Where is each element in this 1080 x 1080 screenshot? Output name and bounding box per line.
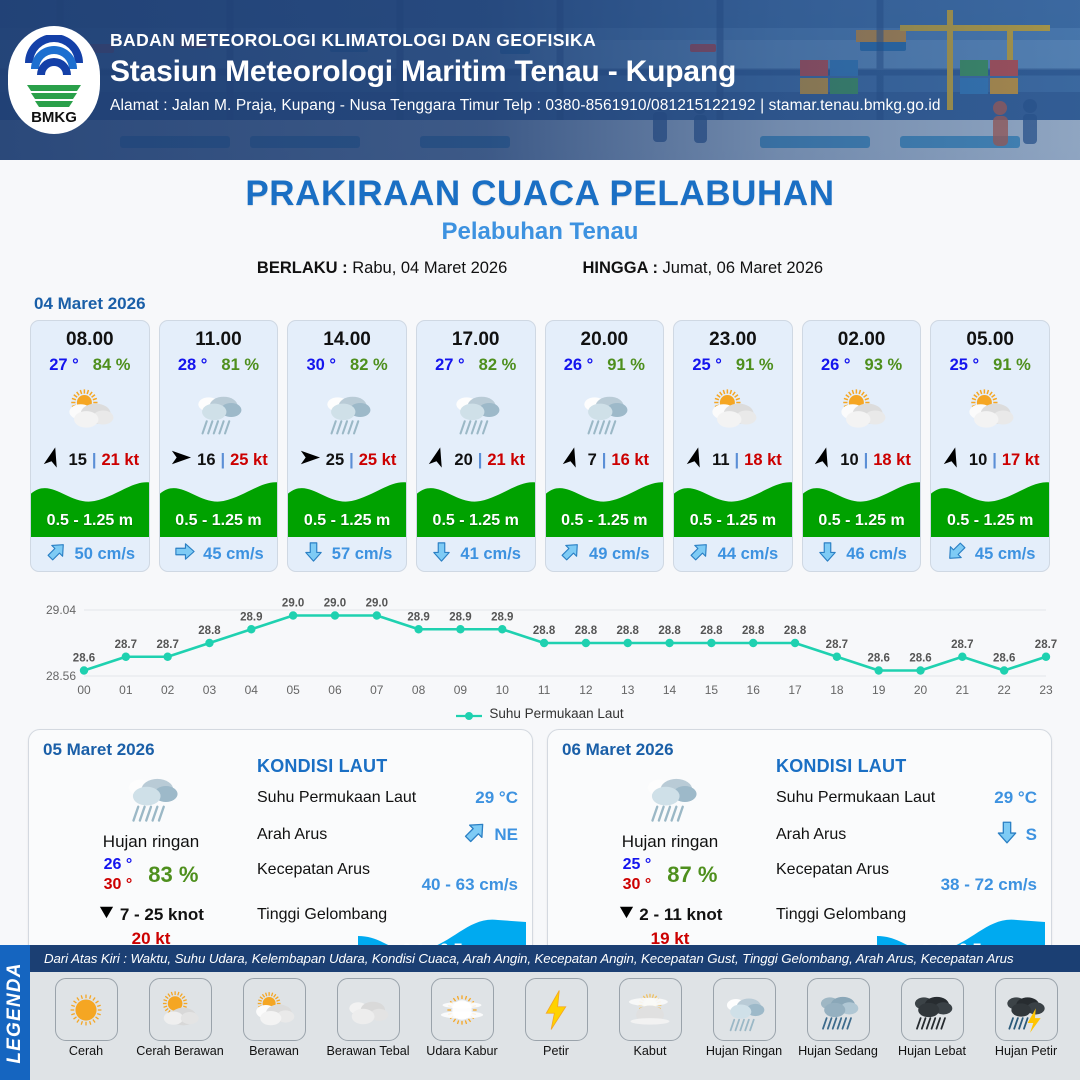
- card-wind: 10 | 18 kt: [803, 445, 921, 475]
- card-wind-speed: 11: [712, 451, 729, 470]
- daily-humidity: 87 %: [667, 862, 717, 888]
- card-wind: 16 | 25 kt: [160, 445, 278, 475]
- card-current: 46 cm/s: [803, 537, 921, 571]
- card-time: 02.00: [803, 321, 921, 351]
- legend-bar: LEGENDA Dari Atas Kiri : Waktu, Suhu Uda…: [0, 945, 1080, 1080]
- svg-text:28.6: 28.6: [909, 653, 931, 665]
- card-temp-humidity: 27 ° 82 %: [417, 356, 535, 375]
- daily-condition: Hujan ringan: [51, 832, 251, 852]
- daily-condition: Hujan ringan: [570, 832, 770, 852]
- card-wind: 10 | 17 kt: [931, 445, 1049, 475]
- current-direction-label: Arah Arus: [257, 826, 462, 844]
- card-wave-height: 0.5 - 1.25 m: [160, 512, 278, 530]
- card-temperature: 28 °: [178, 356, 208, 375]
- card-humidity: 81 %: [221, 356, 259, 375]
- svg-text:20: 20: [914, 683, 928, 697]
- valid-from-value: Rabu, 04 Maret 2026: [352, 259, 507, 277]
- valid-from-label: BERLAKU :: [257, 259, 348, 277]
- svg-text:13: 13: [621, 683, 635, 697]
- validity-line: BERLAKU : Rabu, 04 Maret 2026 HINGGA : J…: [0, 259, 1080, 278]
- card-current-speed: 50 cm/s: [75, 545, 136, 564]
- cerah-icon: [55, 978, 118, 1041]
- sst-value: 29 °C: [475, 788, 518, 808]
- card-time: 20.00: [546, 321, 664, 351]
- hujan-ringan-icon: [160, 377, 278, 443]
- card-time: 05.00: [931, 321, 1049, 351]
- legend-caption: Dari Atas Kiri : Waktu, Suhu Udara, Kele…: [30, 945, 1080, 972]
- card-gust: 25 kt: [230, 451, 268, 470]
- card-temperature: 27 °: [435, 356, 465, 375]
- svg-text:28.9: 28.9: [240, 611, 262, 623]
- legend-item-label: Petir: [512, 1044, 600, 1058]
- card-gust: 18 kt: [873, 451, 911, 470]
- current-direction-row: Arah Arus NE: [257, 819, 518, 850]
- card-wave-height: 0.5 - 1.25 m: [803, 512, 921, 530]
- daily-humidity: 83 %: [148, 862, 198, 888]
- card-humidity: 91 %: [993, 356, 1031, 375]
- legend-item-label: Cerah Berawan: [136, 1044, 224, 1058]
- legend-side-label: LEGENDA: [0, 945, 30, 1080]
- svg-text:21: 21: [956, 683, 970, 697]
- valid-until-value: Jumat, 06 Maret 2026: [663, 259, 824, 277]
- card-gust: 21 kt: [487, 451, 525, 470]
- bmkg-logo: BMKG: [8, 26, 100, 134]
- current-direction-text: NE: [494, 825, 518, 845]
- forecast-card[interactable]: 20.00 26 ° 91 % 7 | 16 kt 0.5 - 1.25 m 4…: [545, 320, 665, 572]
- svg-text:07: 07: [370, 683, 384, 697]
- daily-left-block: Hujan ringan 26 ° 30 ° 83 % 7 - 25 knot …: [51, 758, 251, 949]
- svg-text:19: 19: [872, 683, 886, 697]
- current-direction-arrow-icon: [816, 540, 839, 568]
- card-wind: 25 | 25 kt: [288, 445, 406, 475]
- daily-current-direction-arrow-icon: [462, 819, 488, 850]
- wind-gust-separator: |: [478, 451, 483, 470]
- daily-temp-humidity: 26 ° 30 ° 83 %: [51, 855, 251, 895]
- current-direction-text: S: [1026, 825, 1037, 845]
- sea-conditions-title: KONDISI LAUT: [257, 756, 518, 777]
- hujan-lebat-icon: [901, 978, 964, 1041]
- card-current-speed: 57 cm/s: [332, 545, 393, 564]
- legend-item-label: Udara Kabur: [418, 1044, 506, 1058]
- svg-text:29.0: 29.0: [366, 598, 388, 610]
- card-current: 50 cm/s: [31, 537, 149, 571]
- forecast-card[interactable]: 05.00 25 ° 91 % 10 | 17 kt 0.5 - 1.25 m …: [930, 320, 1050, 572]
- daily-temp-min: 26 °: [104, 855, 133, 875]
- card-humidity: 93 %: [865, 356, 903, 375]
- sst-chart-svg: 29.0428.5628.60028.70128.70228.80328.904…: [22, 584, 1058, 702]
- svg-text:05: 05: [286, 683, 300, 697]
- wind-gust-separator: |: [735, 451, 740, 470]
- wind-direction-arrow-icon: [684, 446, 707, 474]
- legend-item: Hujan Sedang: [794, 978, 882, 1058]
- page-subtitle: Pelabuhan Tenau: [0, 218, 1080, 246]
- card-wave-height: 0.5 - 1.25 m: [288, 512, 406, 530]
- daily-temp-humidity: 25 ° 30 ° 87 %: [570, 855, 770, 895]
- card-wave-band: 0.5 - 1.25 m: [160, 475, 278, 537]
- svg-text:28.7: 28.7: [115, 639, 137, 651]
- svg-text:11: 11: [538, 683, 551, 697]
- svg-text:28.8: 28.8: [658, 625, 681, 637]
- legend-item: Cerah: [42, 978, 130, 1058]
- daily-sea-block: KONDISI LAUT Suhu Permukaan Laut 29 °C A…: [257, 756, 518, 924]
- svg-text:03: 03: [203, 683, 217, 697]
- card-temperature: 26 °: [564, 356, 594, 375]
- daily-summary-panel[interactable]: 05 Maret 2026 Hujan ringan 26 ° 30 ° 83 …: [28, 729, 533, 977]
- card-wave-band: 0.5 - 1.25 m: [546, 475, 664, 537]
- chart-legend-label: Suhu Permukaan Laut: [489, 706, 623, 721]
- current-direction-arrow-icon: [945, 540, 968, 568]
- forecast-card[interactable]: 23.00 25 ° 91 % 11 | 18 kt 0.5 - 1.25 m …: [673, 320, 793, 572]
- wind-direction-arrow-icon: [169, 446, 192, 474]
- svg-text:28.8: 28.8: [784, 625, 807, 637]
- card-wave-band: 0.5 - 1.25 m: [674, 475, 792, 537]
- legend-items: Cerah Cerah Berawan Berawan Berawan Teba…: [30, 972, 1080, 1058]
- svg-text:00: 00: [77, 683, 91, 697]
- card-current-speed: 45 cm/s: [975, 545, 1036, 564]
- svg-text:28.8: 28.8: [617, 625, 640, 637]
- legend-item-label: Kabut: [606, 1044, 694, 1058]
- legend-item: Berawan Tebal: [324, 978, 412, 1058]
- title-block: PRAKIRAAN CUACA PELABUHAN Pelabuhan Tena…: [0, 174, 1080, 278]
- svg-text:14: 14: [663, 683, 677, 697]
- page-title: PRAKIRAAN CUACA PELABUHAN: [0, 174, 1080, 214]
- card-gust: 21 kt: [102, 451, 140, 470]
- card-wave-height: 0.5 - 1.25 m: [674, 512, 792, 530]
- svg-text:28.7: 28.7: [951, 639, 973, 651]
- card-wave-band: 0.5 - 1.25 m: [931, 475, 1049, 537]
- svg-text:01: 01: [119, 683, 133, 697]
- card-wind: 15 | 21 kt: [31, 445, 149, 475]
- forecast-card[interactable]: 14.00 30 ° 82 % 25 | 25 kt 0.5 - 1.25 m …: [287, 320, 407, 572]
- svg-text:17: 17: [788, 683, 802, 697]
- svg-text:28.8: 28.8: [700, 625, 723, 637]
- card-temperature: 25 °: [950, 356, 980, 375]
- card-wave-height: 0.5 - 1.25 m: [931, 512, 1049, 530]
- card-wind-speed: 7: [588, 451, 597, 470]
- berawan-icon: [803, 377, 921, 443]
- forecast-card[interactable]: 02.00 26 ° 93 % 10 | 18 kt 0.5 - 1.25 m …: [802, 320, 922, 572]
- daily-temp-range: 25 ° 30 °: [623, 855, 652, 895]
- current-direction-arrow-icon: [688, 540, 711, 568]
- current-direction-arrow-icon: [559, 540, 582, 568]
- current-direction-arrow-icon: [173, 540, 196, 568]
- wind-direction-arrow-icon: [426, 446, 449, 474]
- valid-until-label: HINGGA :: [582, 259, 657, 277]
- card-temp-humidity: 25 ° 91 %: [674, 356, 792, 375]
- svg-text:28.7: 28.7: [826, 639, 848, 651]
- card-current: 41 cm/s: [417, 537, 535, 571]
- daily-wind: 2 - 11 knot: [570, 903, 770, 925]
- cerah-berawan-icon: [149, 978, 212, 1041]
- wind-gust-separator: |: [92, 451, 97, 470]
- svg-text:04: 04: [245, 683, 259, 697]
- card-current: 44 cm/s: [674, 537, 792, 571]
- svg-text:28.6: 28.6: [73, 653, 95, 665]
- legend-item: Petir: [512, 978, 600, 1058]
- berawan-icon: [31, 377, 149, 443]
- svg-text:06: 06: [328, 683, 342, 697]
- hujan-ringan-icon: [51, 758, 251, 830]
- svg-text:28.7: 28.7: [1035, 639, 1057, 651]
- legend-item-label: Hujan Petir: [982, 1044, 1070, 1058]
- card-current-speed: 45 cm/s: [203, 545, 264, 564]
- card-wave-band: 0.5 - 1.25 m: [31, 475, 149, 537]
- hujan-ringan-icon: [713, 978, 776, 1041]
- card-gust: 18 kt: [744, 451, 782, 470]
- svg-text:09: 09: [454, 683, 468, 697]
- sst-value: 29 °C: [994, 788, 1037, 808]
- sst-label: Suhu Permukaan Laut: [257, 789, 475, 807]
- legend-item-label: Hujan Ringan: [700, 1044, 788, 1058]
- card-humidity: 91 %: [736, 356, 774, 375]
- current-speed-value: 38 - 72 cm/s: [941, 875, 1037, 895]
- station-address: Alamat : Jalan M. Praja, Kupang - Nusa T…: [110, 97, 1066, 115]
- wind-gust-separator: |: [349, 451, 354, 470]
- card-temp-humidity: 25 ° 91 %: [931, 356, 1049, 375]
- svg-text:28.8: 28.8: [575, 625, 598, 637]
- current-direction-arrow-icon: [430, 540, 453, 568]
- card-temperature: 30 °: [306, 356, 336, 375]
- page-header: BMKG BADAN METEOROLOGI KLIMATOLOGI DAN G…: [0, 0, 1080, 160]
- forecast-card[interactable]: 17.00 27 ° 82 % 20 | 21 kt 0.5 - 1.25 m …: [416, 320, 536, 572]
- daily-summary-row: 05 Maret 2026 Hujan ringan 26 ° 30 ° 83 …: [0, 721, 1080, 977]
- card-humidity: 82 %: [350, 356, 388, 375]
- wind-gust-separator: |: [221, 451, 226, 470]
- card-temp-humidity: 26 ° 91 %: [546, 356, 664, 375]
- card-gust: 17 kt: [1002, 451, 1040, 470]
- bmkg-logo-mark: BMKG: [17, 35, 91, 125]
- current-direction-arrow-icon: [45, 540, 68, 568]
- card-temp-humidity: 27 ° 84 %: [31, 356, 149, 375]
- petir-icon: [525, 978, 588, 1041]
- svg-text:28.6: 28.6: [993, 653, 1015, 665]
- svg-text:23: 23: [1039, 683, 1053, 697]
- legend-item-label: Berawan Tebal: [324, 1044, 412, 1058]
- card-wind-speed: 10: [969, 451, 987, 470]
- card-current-speed: 49 cm/s: [589, 545, 650, 564]
- card-wind-speed: 25: [326, 451, 344, 470]
- legend-item: Hujan Lebat: [888, 978, 976, 1058]
- svg-text:02: 02: [161, 683, 175, 697]
- svg-text:08: 08: [412, 683, 426, 697]
- udara-kabur-icon: [431, 978, 494, 1041]
- daily-wind-direction-arrow-icon: [618, 905, 635, 924]
- svg-text:18: 18: [830, 683, 844, 697]
- card-wave-band: 0.5 - 1.25 m: [417, 475, 535, 537]
- daily-wind-range: 7 - 25 knot: [120, 905, 204, 924]
- card-temp-humidity: 26 ° 93 %: [803, 356, 921, 375]
- berawan-icon: [243, 978, 306, 1041]
- legend-main: Dari Atas Kiri : Waktu, Suhu Udara, Kele…: [30, 945, 1080, 1080]
- card-wind: 11 | 18 kt: [674, 445, 792, 475]
- wind-gust-separator: |: [864, 451, 869, 470]
- card-wave-band: 0.5 - 1.25 m: [288, 475, 406, 537]
- berawan-tebal-icon: [337, 978, 400, 1041]
- daily-wind-range: 2 - 11 knot: [639, 905, 722, 924]
- legend-item: Hujan Ringan: [700, 978, 788, 1058]
- card-wind: 7 | 16 kt: [546, 445, 664, 475]
- berawan-icon: [931, 377, 1049, 443]
- current-direction-value: NE: [462, 819, 518, 850]
- daily-wind: 7 - 25 knot: [51, 903, 251, 925]
- card-current: 57 cm/s: [288, 537, 406, 571]
- wind-gust-separator: |: [602, 451, 607, 470]
- hujan-ringan-icon: [417, 377, 535, 443]
- legend-item: Udara Kabur: [418, 978, 506, 1058]
- card-time: 08.00: [31, 321, 149, 351]
- legend-item-label: Hujan Sedang: [794, 1044, 882, 1058]
- hourly-forecast-row: 08.00 27 ° 84 % 15 | 21 kt 0.5 - 1.25 m …: [0, 320, 1080, 572]
- header-text-block: BADAN METEOROLOGI KLIMATOLOGI DAN GEOFIS…: [110, 30, 1066, 115]
- berawan-icon: [674, 377, 792, 443]
- forecast-day-label: 04 Maret 2026: [34, 294, 1080, 314]
- svg-text:12: 12: [579, 683, 593, 697]
- current-direction-arrow-icon: [302, 540, 325, 568]
- daily-temp-max: 30 °: [623, 875, 652, 895]
- card-humidity: 82 %: [479, 356, 517, 375]
- daily-left-block: Hujan ringan 25 ° 30 ° 87 % 2 - 11 knot …: [570, 758, 770, 949]
- svg-text:BMKG: BMKG: [31, 109, 77, 125]
- card-current-speed: 44 cm/s: [718, 545, 779, 564]
- card-temperature: 27 °: [49, 356, 79, 375]
- daily-temp-min: 25 °: [623, 855, 652, 875]
- legend-item-label: Cerah: [42, 1044, 130, 1058]
- card-temperature: 25 °: [692, 356, 722, 375]
- card-current-speed: 46 cm/s: [846, 545, 907, 564]
- legend-side-text: LEGENDA: [4, 962, 26, 1063]
- card-temp-humidity: 28 ° 81 %: [160, 356, 278, 375]
- legend-item: Kabut: [606, 978, 694, 1058]
- card-time: 11.00: [160, 321, 278, 351]
- card-temperature: 26 °: [821, 356, 851, 375]
- card-current: 45 cm/s: [160, 537, 278, 571]
- current-direction-row: Arah Arus S: [776, 819, 1037, 850]
- svg-text:28.9: 28.9: [449, 611, 471, 623]
- legend-item: Cerah Berawan: [136, 978, 224, 1058]
- card-current: 49 cm/s: [546, 537, 664, 571]
- daily-wind-direction-arrow-icon: [98, 905, 115, 924]
- forecast-card[interactable]: 11.00 28 ° 81 % 16 | 25 kt 0.5 - 1.25 m …: [159, 320, 279, 572]
- card-wind-speed: 16: [197, 451, 215, 470]
- sea-conditions-title: KONDISI LAUT: [776, 756, 1037, 777]
- chart-legend-marker: [456, 709, 482, 719]
- card-wave-height: 0.5 - 1.25 m: [546, 512, 664, 530]
- daily-temp-range: 26 ° 30 °: [104, 855, 133, 895]
- daily-temp-max: 30 °: [104, 875, 133, 895]
- legend-item-label: Berawan: [230, 1044, 318, 1058]
- svg-text:28.9: 28.9: [491, 611, 513, 623]
- hujan-ringan-icon: [546, 377, 664, 443]
- station-name: Stasiun Meteorologi Maritim Tenau - Kupa…: [110, 55, 1066, 90]
- wind-direction-arrow-icon: [560, 446, 583, 474]
- svg-text:29.0: 29.0: [324, 598, 346, 610]
- wind-direction-arrow-icon: [812, 446, 835, 474]
- wind-direction-arrow-icon: [298, 446, 321, 474]
- current-speed-value: 40 - 63 cm/s: [422, 875, 518, 895]
- legend-item: Hujan Petir: [982, 978, 1070, 1058]
- card-time: 17.00: [417, 321, 535, 351]
- svg-text:28.6: 28.6: [868, 653, 890, 665]
- svg-text:28.56: 28.56: [46, 669, 76, 683]
- current-direction-label: Arah Arus: [776, 826, 994, 844]
- kabut-icon: [619, 978, 682, 1041]
- svg-text:28.8: 28.8: [742, 625, 765, 637]
- wind-gust-separator: |: [992, 451, 997, 470]
- svg-text:28.7: 28.7: [156, 639, 178, 651]
- card-gust: 16 kt: [611, 451, 649, 470]
- card-gust: 25 kt: [359, 451, 397, 470]
- sst-label: Suhu Permukaan Laut: [776, 789, 994, 807]
- card-time: 14.00: [288, 321, 406, 351]
- card-wind-speed: 15: [69, 451, 87, 470]
- daily-summary-panel[interactable]: 06 Maret 2026 Hujan ringan 25 ° 30 ° 87 …: [547, 729, 1052, 977]
- legend-item: Berawan: [230, 978, 318, 1058]
- daily-sea-block: KONDISI LAUT Suhu Permukaan Laut 29 °C A…: [776, 756, 1037, 924]
- card-wind-speed: 10: [840, 451, 858, 470]
- card-wave-height: 0.5 - 1.25 m: [31, 512, 149, 530]
- forecast-card[interactable]: 08.00 27 ° 84 % 15 | 21 kt 0.5 - 1.25 m …: [30, 320, 150, 572]
- current-direction-value: S: [994, 819, 1037, 850]
- sst-row: Suhu Permukaan Laut 29 °C: [257, 788, 518, 808]
- wind-direction-arrow-icon: [941, 446, 964, 474]
- card-wave-height: 0.5 - 1.25 m: [417, 512, 535, 530]
- card-wave-band: 0.5 - 1.25 m: [803, 475, 921, 537]
- legend-item-label: Hujan Lebat: [888, 1044, 976, 1058]
- card-humidity: 91 %: [607, 356, 645, 375]
- svg-text:15: 15: [705, 683, 719, 697]
- svg-text:16: 16: [747, 683, 761, 697]
- hujan-ringan-icon: [570, 758, 770, 830]
- sst-row: Suhu Permukaan Laut 29 °C: [776, 788, 1037, 808]
- svg-text:22: 22: [997, 683, 1011, 697]
- sst-chart: 29.0428.5628.60028.70128.70228.80328.904…: [22, 584, 1058, 704]
- hujan-ringan-icon: [288, 377, 406, 443]
- svg-text:28.9: 28.9: [407, 611, 429, 623]
- daily-current-direction-arrow-icon: [994, 819, 1020, 850]
- svg-text:10: 10: [496, 683, 510, 697]
- agency-name: BADAN METEOROLOGI KLIMATOLOGI DAN GEOFIS…: [110, 30, 1066, 51]
- card-temp-humidity: 30 ° 82 %: [288, 356, 406, 375]
- card-current: 45 cm/s: [931, 537, 1049, 571]
- chart-legend: Suhu Permukaan Laut: [0, 706, 1080, 721]
- card-current-speed: 41 cm/s: [460, 545, 521, 564]
- card-time: 23.00: [674, 321, 792, 351]
- card-wind: 20 | 21 kt: [417, 445, 535, 475]
- svg-text:29.0: 29.0: [282, 598, 304, 610]
- svg-text:28.8: 28.8: [198, 625, 221, 637]
- hujan-petir-icon: [995, 978, 1058, 1041]
- svg-text:28.8: 28.8: [533, 625, 556, 637]
- card-humidity: 84 %: [93, 356, 131, 375]
- card-wind-speed: 20: [454, 451, 472, 470]
- wind-direction-arrow-icon: [41, 446, 64, 474]
- hujan-sedang-icon: [807, 978, 870, 1041]
- svg-text:29.04: 29.04: [46, 603, 76, 617]
